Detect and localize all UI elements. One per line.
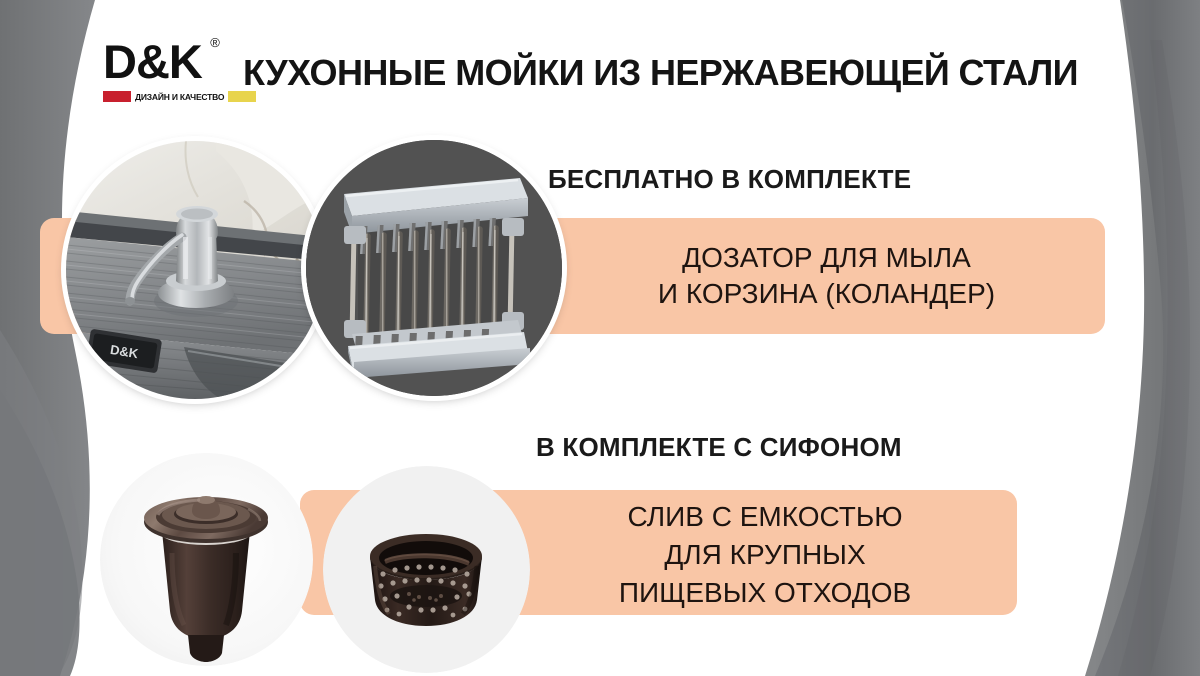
band-bottom-line-3: ПИЩЕВЫХ ОТХОДОВ — [513, 574, 1017, 612]
band-text-bottom: СЛИВ С ЕМКОСТЬЮ ДЛЯ КРУПНЫХ ПИЩЕВЫХ ОТХО… — [513, 498, 1017, 612]
colander-illustration — [306, 140, 562, 396]
logo-wordmark-text: D&K ® — [103, 38, 202, 85]
promo-banner: D&K ® ДИЗАЙН И КАЧЕСТВО КУХОННЫЕ МОЙКИ И… — [0, 0, 1200, 676]
photo-drain-strainer — [100, 453, 313, 666]
logo-tagline: ДИЗАЙН И КАЧЕСТВО — [103, 91, 251, 102]
waste-basket-illustration — [323, 466, 530, 673]
section-heading-free-included: БЕСПЛАТНО В КОМПЛЕКТЕ — [548, 164, 911, 195]
band-bottom-line-2: ДЛЯ КРУПНЫХ — [513, 536, 1017, 574]
tagline-bar-red — [103, 91, 131, 102]
photo-soap-dispenser: D&K — [66, 141, 324, 399]
photo-waste-basket — [323, 466, 530, 673]
drain-strainer-illustration — [100, 453, 313, 666]
soap-dispenser-illustration: D&K — [66, 141, 324, 399]
registered-trademark-icon: ® — [210, 36, 219, 49]
header: D&K ® ДИЗАЙН И КАЧЕСТВО КУХОННЫЕ МОЙКИ И… — [0, 0, 1200, 130]
logo-wordmark-label: D&K — [103, 35, 202, 88]
band-top-line-1: ДОЗАТОР ДЛЯ МЫЛА — [548, 240, 1105, 276]
band-text-top: ДОЗАТОР ДЛЯ МЫЛА И КОРЗИНА (КОЛАНДЕР) — [548, 240, 1105, 312]
brand-logo: D&K ® ДИЗАЙН И КАЧЕСТВО — [103, 38, 243, 102]
section-heading-with-siphon: В КОМПЛЕКТЕ С СИФОНОМ — [536, 432, 902, 463]
logo-tagline-label: ДИЗАЙН И КАЧЕСТВО — [131, 92, 228, 102]
page-title: КУХОННЫЕ МОЙКИ ИЗ НЕРЖАВЕЮЩЕЙ СТАЛИ — [243, 52, 1078, 94]
band-top-line-2: И КОРЗИНА (КОЛАНДЕР) — [548, 276, 1105, 312]
photo-colander — [306, 140, 562, 396]
band-bottom-line-1: СЛИВ С ЕМКОСТЬЮ — [513, 498, 1017, 536]
